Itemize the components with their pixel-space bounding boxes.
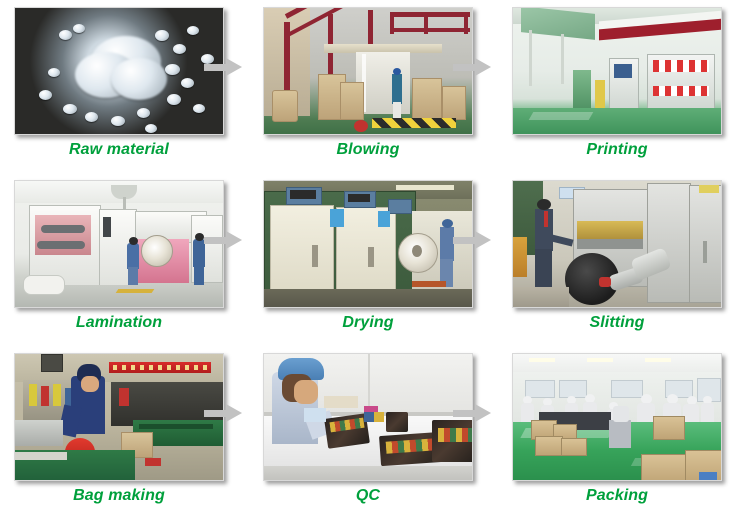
arrow-head: [475, 404, 491, 422]
roll-core: [412, 245, 422, 257]
process-row-3: Bag making: [0, 346, 747, 519]
worker-cap: [393, 68, 401, 75]
process-step-qc[interactable]: QC: [249, 346, 498, 519]
worker-face: [81, 376, 99, 392]
cabinet-handle: [703, 241, 707, 263]
qc-photo-wrap[interactable]: [263, 353, 473, 481]
banner-text: [113, 365, 207, 370]
conveyor-edge: [139, 424, 213, 429]
trolley-top: [613, 406, 629, 422]
wall-unit: [41, 354, 63, 372]
ceiling-light: [396, 185, 454, 190]
door-handle: [368, 247, 374, 267]
pellet: [193, 104, 205, 113]
process-step-label: QC: [249, 487, 487, 505]
process-step-printing[interactable]: Printing: [498, 0, 747, 173]
worker-head: [129, 237, 138, 245]
inspector-face: [294, 380, 318, 404]
process-row-1: Raw material: [0, 0, 747, 173]
drying-photo[interactable]: [263, 180, 473, 308]
worker-cap: [442, 219, 453, 228]
arrow-head: [226, 404, 242, 422]
carton: [561, 438, 587, 456]
worker-body: [440, 227, 454, 261]
machine-bed: [15, 420, 63, 446]
flow-arrow-icon: [204, 231, 242, 249]
drying-photo-wrap[interactable]: [263, 180, 473, 308]
platform-post: [464, 12, 468, 34]
control-panel: [614, 64, 632, 78]
process-row-2: Lamination: [0, 173, 747, 346]
pack-graphics: [438, 428, 472, 442]
arrow-head: [475, 231, 491, 249]
pellet: [165, 64, 180, 75]
platform-rail: [390, 12, 470, 17]
floor: [513, 287, 569, 308]
yellow-block: [374, 412, 384, 422]
carton: [641, 454, 687, 481]
column: [529, 30, 532, 86]
arrow-shaft: [453, 410, 477, 417]
printing-photo-wrap[interactable]: [512, 7, 722, 135]
ceiling-light: [645, 358, 671, 362]
pellet: [85, 112, 98, 122]
table-front: [264, 466, 473, 481]
process-step-label: Slitting: [498, 314, 736, 332]
floor-reflection: [529, 112, 594, 120]
flow-arrow-icon: [453, 58, 491, 76]
process-step-packing[interactable]: Packing: [498, 346, 747, 519]
control-display: [348, 194, 370, 202]
process-step-label: Printing: [498, 141, 736, 159]
arrow-shaft: [204, 64, 228, 71]
pellet-cluster: [111, 58, 167, 100]
floor-marking: [116, 289, 155, 293]
red-handle: [599, 277, 611, 287]
process-step-slitting[interactable]: Slitting: [498, 173, 747, 346]
wall-window: [525, 380, 555, 398]
process-step-label: Drying: [249, 314, 487, 332]
table-edge: [15, 452, 67, 460]
carton: [442, 86, 466, 120]
production-process-flowchart: Raw material: [0, 0, 747, 521]
label-sticker: [330, 209, 344, 227]
red-object: [354, 120, 368, 132]
pack: [386, 412, 408, 432]
table-items: [324, 396, 358, 408]
pellet: [181, 78, 194, 88]
blue-block: [364, 412, 374, 422]
cable-hose: [23, 275, 65, 295]
spool: [29, 384, 37, 406]
arrow-shaft: [453, 237, 477, 244]
arrow-head: [475, 58, 491, 76]
blue-pallet: [699, 472, 717, 481]
duct: [37, 241, 85, 249]
column: [561, 34, 564, 84]
control-box: [388, 199, 412, 214]
pellet: [63, 104, 77, 114]
pellet: [145, 124, 157, 133]
control-display: [290, 190, 316, 199]
arrow-shaft: [204, 410, 228, 417]
worker-cap: [537, 199, 551, 210]
flow-arrow-icon: [453, 404, 491, 422]
printing-photo[interactable]: [512, 7, 722, 135]
ink-indicators: [653, 60, 709, 72]
process-step-lamination[interactable]: Lamination: [0, 173, 249, 346]
control-strip: [103, 217, 111, 237]
pellet: [59, 30, 72, 40]
platform-post: [390, 12, 394, 34]
process-step-bag-making[interactable]: Bag making: [0, 346, 249, 519]
blue-tray: [304, 408, 326, 422]
ink-indicators: [653, 86, 709, 96]
bag-making-photo-wrap[interactable]: [14, 353, 224, 481]
carton: [340, 82, 364, 120]
pellet: [137, 108, 150, 118]
worker-tie: [544, 211, 548, 227]
carton: [535, 436, 563, 456]
pellet: [111, 116, 125, 126]
machine-part: [119, 388, 129, 406]
carton: [412, 78, 442, 120]
pellet: [155, 30, 169, 41]
blowing-photo-wrap[interactable]: [263, 7, 473, 135]
spool: [41, 386, 49, 406]
pellet: [187, 26, 199, 35]
pellet: [167, 94, 181, 105]
lamination-photo-wrap[interactable]: [14, 180, 224, 308]
carton: [653, 416, 685, 440]
pellet: [73, 24, 85, 33]
trolley: [609, 420, 631, 448]
hazard-floor-marking: [372, 118, 456, 128]
process-step-raw-material[interactable]: Raw material: [0, 0, 249, 173]
arrow-head: [226, 231, 242, 249]
ceiling-light: [587, 358, 613, 362]
pellet: [173, 44, 186, 54]
platform-post: [424, 12, 428, 34]
ceiling: [513, 354, 722, 372]
flow-arrow-icon: [204, 58, 242, 76]
lamination-photo[interactable]: [14, 180, 224, 308]
process-step-drying[interactable]: Drying: [249, 173, 498, 346]
process-step-label: Blowing: [249, 141, 487, 159]
worker-legs: [128, 267, 138, 287]
oven-door: [270, 205, 334, 299]
paper-roll: [272, 90, 298, 122]
machine-cabinet: [647, 183, 691, 303]
qc-photo[interactable]: [263, 353, 473, 481]
pellet: [48, 68, 60, 77]
worker-body: [392, 74, 402, 104]
flow-arrow-icon: [453, 231, 491, 249]
raw-material-photo-wrap[interactable]: [14, 7, 224, 135]
stacked-goods: [513, 237, 527, 277]
process-step-label: Raw material: [0, 141, 238, 159]
platform-rail: [390, 28, 470, 32]
yellow-bin: [595, 80, 605, 108]
flow-arrow-icon: [204, 404, 242, 422]
floor: [264, 289, 473, 308]
packing-photo[interactable]: [512, 353, 722, 481]
slitting-photo-wrap[interactable]: [512, 180, 722, 308]
process-step-blowing[interactable]: Blowing: [249, 0, 498, 173]
label-sticker: [378, 211, 390, 227]
process-step-label: Packing: [498, 487, 736, 505]
film-roll: [141, 235, 173, 267]
ceiling-light: [529, 358, 555, 362]
worker-head: [195, 233, 204, 241]
duct: [41, 225, 85, 233]
wall-window: [611, 380, 643, 398]
process-step-label: Bag making: [0, 487, 238, 505]
bag-making-photo[interactable]: [14, 353, 224, 481]
door-handle: [312, 245, 318, 267]
worker-legs: [194, 265, 204, 287]
arrow-shaft: [453, 64, 477, 71]
worker-body: [127, 243, 139, 269]
drying-tunnel-window: [35, 215, 91, 255]
pellet: [39, 90, 52, 100]
roller-bar: [577, 239, 643, 249]
packing-photo-wrap[interactable]: [512, 353, 722, 481]
arrow-head: [226, 58, 242, 76]
gear-row: [577, 221, 643, 239]
green-cabinet: [573, 70, 591, 110]
red-part: [145, 458, 161, 466]
blowing-photo[interactable]: [263, 7, 473, 135]
warning-label: [699, 185, 719, 193]
spool: [53, 384, 61, 406]
process-step-label: Lamination: [0, 314, 238, 332]
slitting-photo[interactable]: [512, 180, 722, 308]
raw-material-photo[interactable]: [14, 7, 224, 135]
arrow-shaft: [204, 237, 228, 244]
cart: [412, 281, 446, 287]
